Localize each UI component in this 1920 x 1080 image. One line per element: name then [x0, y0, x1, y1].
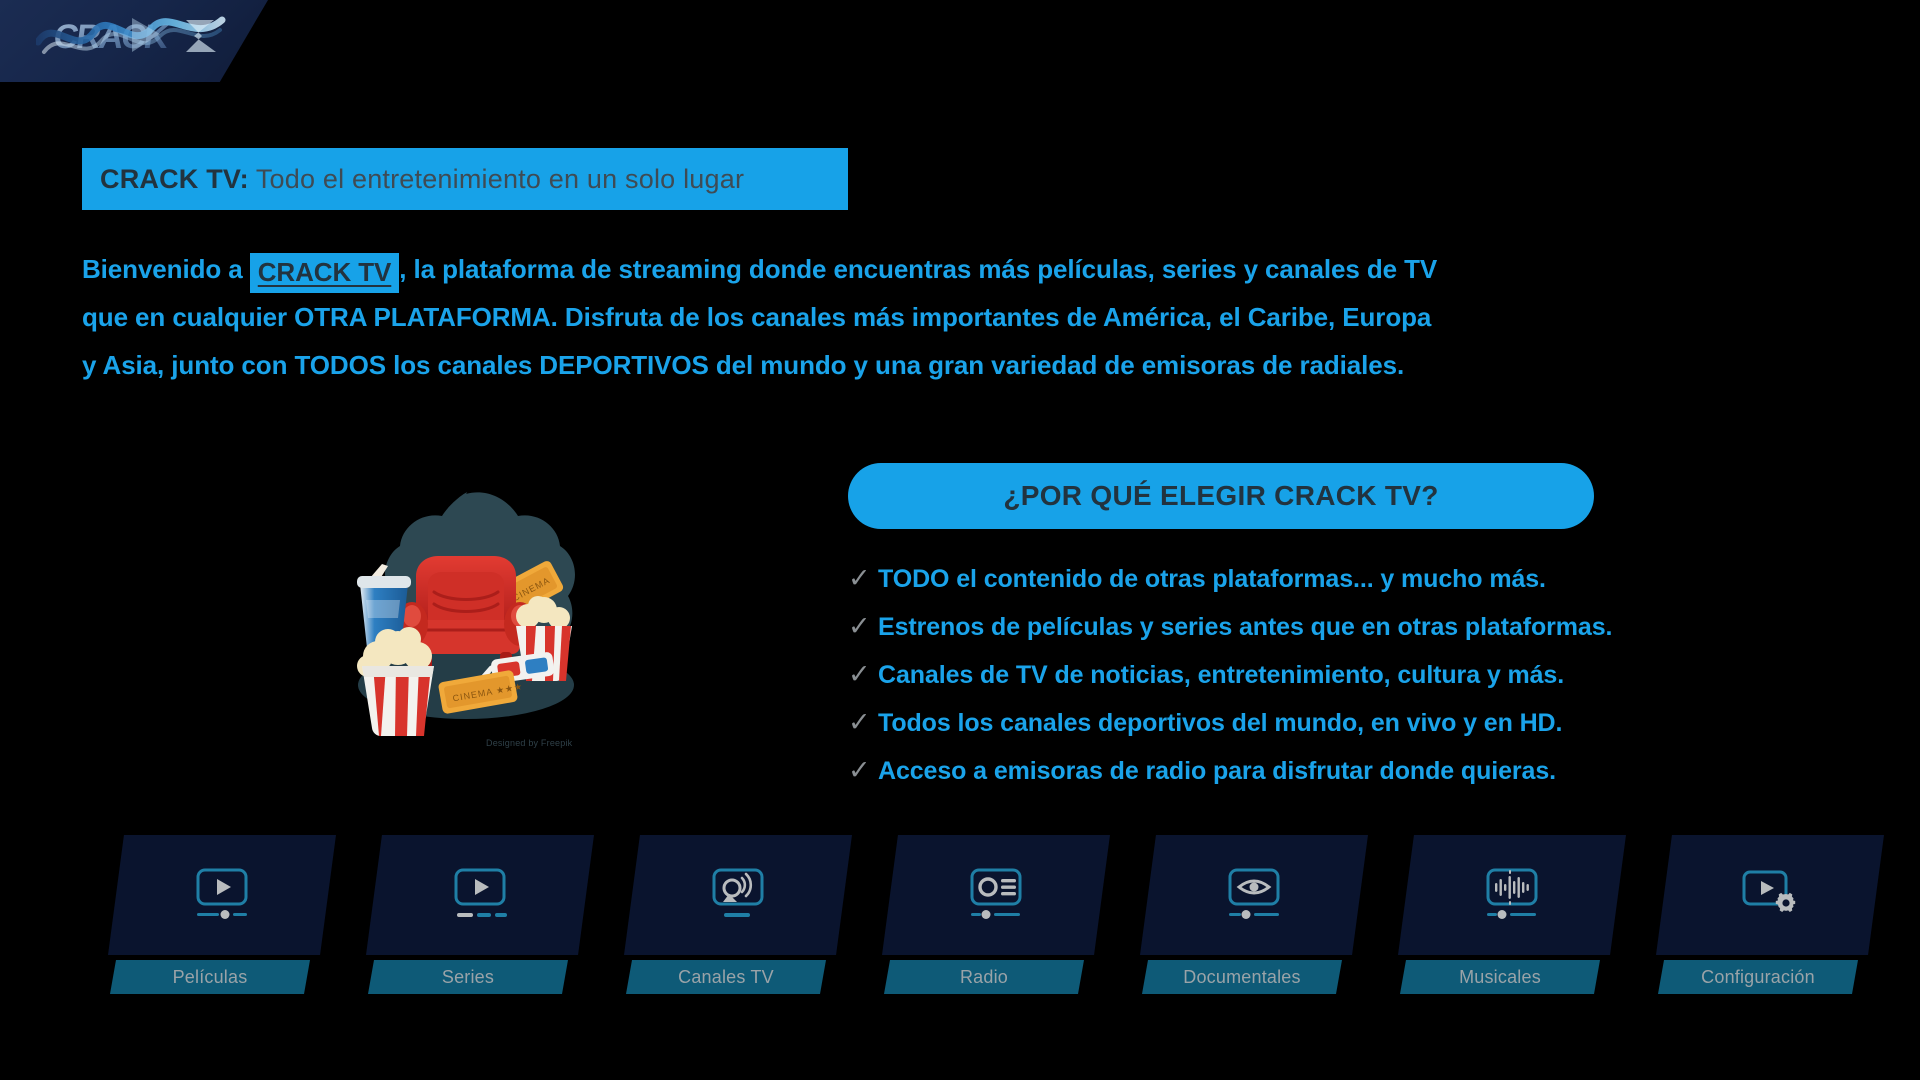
- tile-panel[interactable]: [1140, 835, 1368, 955]
- benefit-item: ✓ Estrenos de películas y series antes q…: [848, 613, 1878, 661]
- crack-tv-link[interactable]: CRACK TV: [250, 253, 400, 293]
- benefit-item: ✓ Canales de TV de noticias, entretenimi…: [848, 661, 1878, 709]
- freepik-watermark: Designed by Freepik: [486, 738, 572, 748]
- tile-panel[interactable]: [1398, 835, 1626, 955]
- benefit-label: Canales de TV de noticias, entretenimien…: [878, 661, 1564, 690]
- headline-rest: Todo el entretenimiento en un solo lugar: [256, 164, 744, 195]
- cinema-illustration: CINEMA: [316, 480, 616, 780]
- audio-waveform-icon: [1475, 864, 1549, 926]
- check-icon: ✓: [848, 613, 878, 640]
- tile-label[interactable]: Series: [368, 960, 568, 994]
- cta-label: ¿POR QUÉ ELEGIR CRACK TV?: [1003, 480, 1438, 512]
- play-gear-icon: [1733, 864, 1807, 926]
- radio-tuner-icon: [959, 864, 1033, 926]
- tile-label[interactable]: Canales TV: [626, 960, 826, 994]
- logo-banner[interactable]: CRACK: [0, 0, 268, 82]
- nav-tile-musicales[interactable]: Musicales: [1398, 835, 1626, 1000]
- eye-screen-icon: [1217, 864, 1291, 926]
- tile-panel[interactable]: [366, 835, 594, 955]
- tile-label[interactable]: Documentales: [1142, 960, 1342, 994]
- benefit-item: ✓ TODO el contenido de otras plataformas…: [848, 565, 1878, 613]
- benefit-label: Estrenos de películas y series antes que…: [878, 613, 1612, 642]
- tile-panel[interactable]: [1656, 835, 1884, 955]
- crack-tv-home-screen: CRACK CRACK TV: Todo el entretenimiento …: [0, 0, 1920, 1080]
- tile-label[interactable]: Películas: [110, 960, 310, 994]
- benefit-label: TODO el contenido de otras plataformas..…: [878, 565, 1546, 594]
- satellite-dish-icon: [701, 864, 775, 926]
- tile-panel[interactable]: [108, 835, 336, 955]
- nav-tile-series[interactable]: Series: [366, 835, 594, 1000]
- intro-before-link: Bienvenido a: [82, 254, 243, 284]
- check-icon: ✓: [848, 709, 878, 736]
- tile-panel[interactable]: [882, 835, 1110, 955]
- why-choose-crack-tv-button[interactable]: ¿POR QUÉ ELEGIR CRACK TV?: [848, 463, 1594, 529]
- tile-panel[interactable]: [624, 835, 852, 955]
- category-tile-nav: Películas Series: [108, 835, 1878, 1000]
- headline-banner: CRACK TV: Todo el entretenimiento en un …: [82, 148, 848, 210]
- benefit-label: Todos los canales deportivos del mundo, …: [878, 709, 1562, 738]
- nav-tile-documentales[interactable]: Documentales: [1140, 835, 1368, 1000]
- check-icon: ✓: [848, 565, 878, 592]
- intro-paragraph: Bienvenido a CRACK TV, la plataforma de …: [82, 245, 1452, 389]
- nav-tile-canales-tv[interactable]: Canales TV: [624, 835, 852, 1000]
- nav-tile-radio[interactable]: Radio: [882, 835, 1110, 1000]
- benefit-item: ✓ Todos los canales deportivos del mundo…: [848, 709, 1878, 757]
- benefit-item: ✓ Acceso a emisoras de radio para disfru…: [848, 757, 1878, 805]
- check-icon: ✓: [848, 661, 878, 688]
- tile-label[interactable]: Configuración: [1658, 960, 1858, 994]
- check-icon: ✓: [848, 757, 878, 784]
- benefit-label: Acceso a emisoras de radio para disfruta…: [878, 757, 1556, 786]
- play-screen-icon: [185, 864, 259, 926]
- nav-tile-peliculas[interactable]: Películas: [108, 835, 336, 1000]
- benefits-list: ✓ TODO el contenido de otras plataformas…: [848, 565, 1878, 805]
- crack-tv-logo-icon: CRACK: [36, 8, 226, 66]
- nav-tile-configuracion[interactable]: Configuración: [1656, 835, 1884, 1000]
- headline-strong: CRACK TV:: [100, 164, 249, 195]
- play-screen-episodes-icon: [443, 864, 517, 926]
- tile-label[interactable]: Musicales: [1400, 960, 1600, 994]
- tile-label[interactable]: Radio: [884, 960, 1084, 994]
